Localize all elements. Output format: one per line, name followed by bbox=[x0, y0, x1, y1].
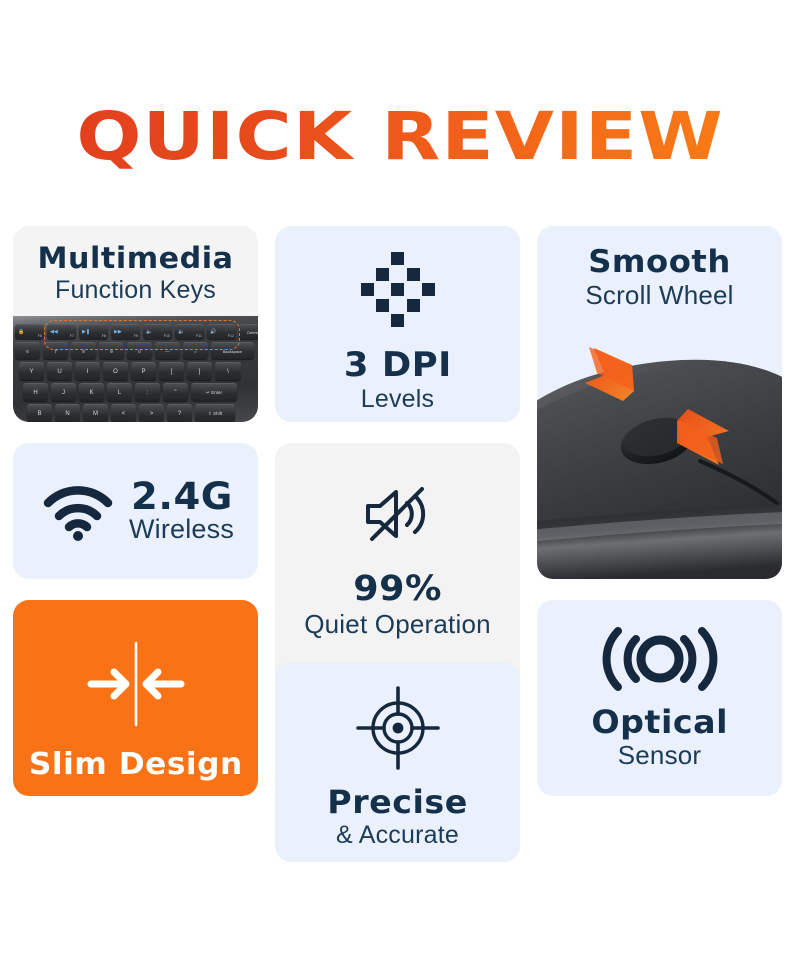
page-title: QUICK REVIEW bbox=[76, 104, 724, 170]
compress-arrows-icon bbox=[81, 641, 191, 727]
slim-text-block: Slim Design bbox=[33, 749, 239, 781]
key-p: P bbox=[131, 362, 156, 380]
key-backspace: Backspace bbox=[211, 342, 254, 359]
key-label: F12 bbox=[228, 334, 234, 338]
card-multimedia-function-keys[interactable]: Multimedia Function Keys 🔒 F6 ◀◀ F7 ▶❚ bbox=[13, 226, 258, 422]
key-quote: " bbox=[163, 383, 188, 401]
key-semicolon: : bbox=[135, 383, 160, 401]
key-delete: Delete bbox=[239, 324, 258, 339]
key-o: O bbox=[103, 362, 128, 380]
key-bracket-right: ] bbox=[187, 362, 212, 380]
key-f10: 🔈 F10 bbox=[143, 324, 172, 339]
volume-mute-icon: 🔈 bbox=[146, 329, 152, 335]
key-bracket-left: [ bbox=[159, 362, 184, 380]
key-comma: < bbox=[111, 404, 136, 422]
multimedia-heading: Multimedia bbox=[13, 243, 258, 273]
key-6: 6 bbox=[15, 342, 40, 359]
key-0: 0 bbox=[127, 342, 152, 359]
fast-forward-icon: ▶▶ bbox=[114, 329, 122, 335]
key-label: F8 bbox=[102, 334, 106, 338]
key-f11: 🔉 F11 bbox=[175, 324, 204, 339]
key-h: H bbox=[23, 383, 48, 401]
slim-heading: Slim Design bbox=[29, 749, 243, 781]
key-f12: 🔊 F12 bbox=[207, 324, 236, 339]
key-label: F6 bbox=[38, 334, 42, 338]
volume-down-icon: 🔉 bbox=[178, 329, 184, 335]
key-backslash: \ bbox=[215, 362, 241, 380]
key-label: F9 bbox=[134, 334, 138, 338]
lock-icon: 🔒 bbox=[18, 329, 24, 335]
key-9: 9 bbox=[99, 342, 124, 359]
key-y: Y bbox=[19, 362, 44, 380]
key-f9: ▶▶ F9 bbox=[111, 324, 140, 339]
crosshair-target-icon bbox=[354, 686, 442, 770]
scroll-heading: Smooth bbox=[537, 246, 782, 279]
mouse-illustration bbox=[537, 313, 782, 579]
card-wireless[interactable]: 2.4G Wireless bbox=[13, 443, 258, 579]
scroll-text-block: Smooth Scroll Wheel bbox=[537, 246, 782, 309]
play-pause-icon: ▶❚ bbox=[82, 329, 90, 335]
optical-subheading: Sensor bbox=[618, 741, 702, 770]
key-period: > bbox=[139, 404, 164, 422]
wireless-heading: 2.4G bbox=[131, 478, 233, 517]
key-equals: = bbox=[183, 342, 208, 359]
scroll-subheading: Scroll Wheel bbox=[537, 281, 782, 310]
mouse-scroll-wheel-photo bbox=[537, 313, 782, 579]
key-slash: ? bbox=[167, 404, 192, 422]
key-f6: 🔒 F6 bbox=[15, 324, 44, 339]
key-j: J bbox=[51, 383, 76, 401]
rewind-icon: ◀◀ bbox=[50, 329, 58, 335]
multimedia-text-block: Multimedia Function Keys bbox=[13, 243, 258, 305]
key-minus: — bbox=[155, 342, 180, 359]
key-f7: ◀◀ F7 bbox=[47, 324, 76, 339]
page-title-wrap: QUICK REVIEW bbox=[0, 104, 800, 170]
key-i: I bbox=[75, 362, 100, 380]
wireless-text-block: 2.4G Wireless bbox=[129, 478, 234, 545]
optical-heading: Optical bbox=[591, 706, 728, 740]
precise-inner: Precise & Accurate bbox=[275, 662, 520, 862]
volume-up-icon: 🔊 bbox=[210, 329, 216, 335]
infographic-page: QUICK REVIEW Multimedia Function Keys 🔒 … bbox=[0, 0, 800, 977]
key-shift: ⇧ Shift bbox=[195, 404, 235, 422]
card-precise-accurate[interactable]: Precise & Accurate bbox=[275, 662, 520, 862]
optical-inner: Optical Sensor bbox=[537, 600, 782, 796]
key-label: F11 bbox=[196, 334, 202, 338]
key-b: B bbox=[27, 404, 52, 422]
key-k: K bbox=[79, 383, 104, 401]
key-m: M bbox=[83, 404, 108, 422]
card-smooth-scroll-wheel[interactable]: Smooth Scroll Wheel bbox=[537, 226, 782, 579]
key-n: N bbox=[55, 404, 80, 422]
speaker-mute-icon bbox=[362, 483, 434, 545]
key-label: F7 bbox=[70, 334, 74, 338]
wireless-subheading: Wireless bbox=[129, 515, 234, 545]
multimedia-subheading: Function Keys bbox=[13, 277, 258, 305]
optical-sensor-icon bbox=[600, 626, 720, 692]
key-enter: ↵ Enter bbox=[191, 383, 237, 401]
key-8: 8 bbox=[71, 342, 96, 359]
wireless-inner: 2.4G Wireless bbox=[13, 443, 258, 579]
card-slim-design[interactable]: Slim Design bbox=[13, 600, 258, 796]
precise-heading: Precise bbox=[327, 786, 468, 820]
dpi-inner: 3 DPI Levels bbox=[275, 226, 520, 422]
key-f8: ▶❚ F8 bbox=[79, 324, 108, 339]
precise-subheading: & Accurate bbox=[336, 822, 459, 850]
key-u: U bbox=[47, 362, 72, 380]
key-l: L bbox=[107, 383, 132, 401]
card-optical-sensor[interactable]: Optical Sensor bbox=[537, 600, 782, 796]
quiet-heading: 99% bbox=[353, 571, 442, 608]
slim-inner: Slim Design bbox=[13, 600, 258, 796]
card-dpi-levels[interactable]: 3 DPI Levels bbox=[275, 226, 520, 422]
dpi-dot-grid-icon bbox=[361, 252, 435, 326]
dpi-subheading: Levels bbox=[361, 386, 434, 414]
wifi-icon bbox=[41, 481, 115, 541]
key-label: F10 bbox=[164, 334, 170, 338]
keyboard-photo: 🔒 F6 ◀◀ F7 ▶❚ F8 ▶▶ F9 bbox=[13, 316, 258, 422]
quiet-subheading: Quiet Operation bbox=[304, 610, 491, 639]
dpi-heading: 3 DPI bbox=[344, 348, 452, 384]
key-7: 7 bbox=[43, 342, 68, 359]
